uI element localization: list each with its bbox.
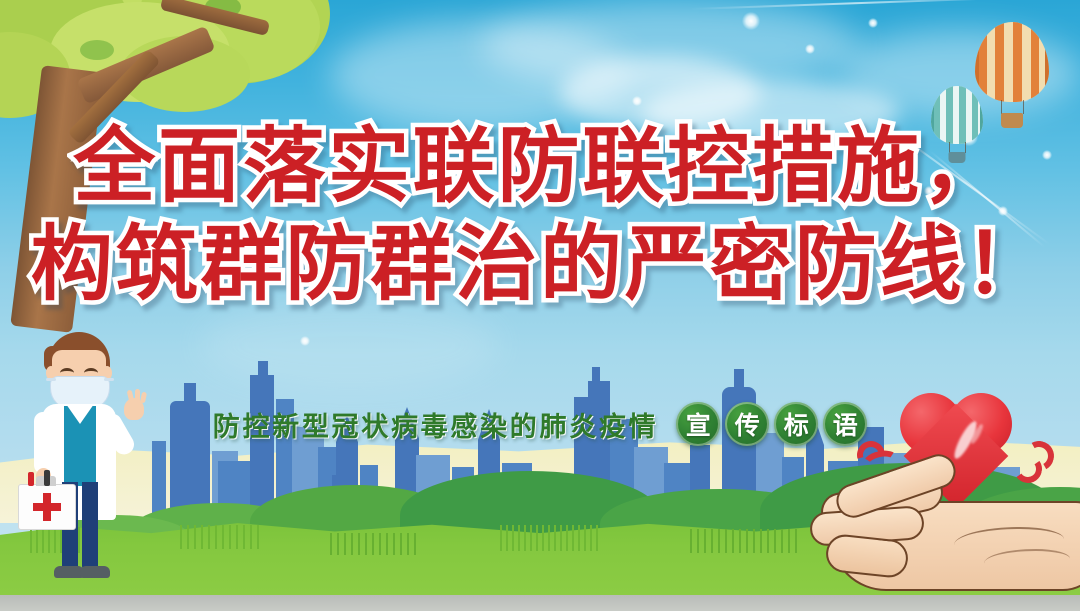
subtitle-text: 防控新型冠状病毒感染的肺炎疫情 bbox=[213, 405, 659, 444]
subtitle-chips: 宣 传 标 语 bbox=[676, 402, 867, 446]
chip-yu: 语 bbox=[823, 402, 867, 446]
red-cross-icon bbox=[33, 503, 61, 511]
sparkle-icon bbox=[742, 12, 760, 30]
palm-crease bbox=[984, 549, 1070, 573]
grass-tuft bbox=[500, 525, 600, 551]
poster-canvas: 全面落实联防联控措施， 构筑群防群治的严密防线！ bbox=[0, 0, 1080, 611]
sparkle-icon bbox=[805, 44, 815, 54]
tree-illustration bbox=[0, 0, 320, 322]
doctor-finger bbox=[140, 392, 147, 404]
chip-chuan: 传 bbox=[725, 402, 769, 446]
sparkle-icon bbox=[998, 206, 1008, 216]
ground-strip bbox=[0, 595, 1080, 611]
doctor-shoe bbox=[80, 566, 110, 578]
mask-strap bbox=[46, 378, 56, 381]
sparkle-icon bbox=[632, 96, 642, 106]
grass-tuft bbox=[330, 533, 420, 555]
hot-air-balloon-orange bbox=[975, 22, 1049, 132]
leaf-cluster bbox=[80, 40, 114, 60]
chip-biao: 标 bbox=[774, 402, 818, 446]
sparkle-icon bbox=[1042, 150, 1052, 160]
kit-tool bbox=[44, 470, 50, 486]
doctor-character bbox=[16, 332, 166, 600]
hot-air-balloon-teal bbox=[931, 86, 983, 166]
sparkle-icon bbox=[300, 336, 310, 346]
sparkle-icon bbox=[924, 186, 934, 196]
sparkle-icon bbox=[868, 18, 878, 28]
mask-strap bbox=[104, 378, 114, 381]
medical-kit bbox=[18, 484, 76, 530]
kit-bottle bbox=[28, 472, 34, 486]
doctor-arm bbox=[34, 412, 52, 474]
grass-tuft bbox=[180, 525, 260, 549]
chip-xuan: 宣 bbox=[676, 402, 720, 446]
grass-tuft bbox=[690, 529, 800, 553]
doctor-leg bbox=[82, 482, 98, 570]
open-hand-illustration bbox=[804, 453, 1080, 603]
